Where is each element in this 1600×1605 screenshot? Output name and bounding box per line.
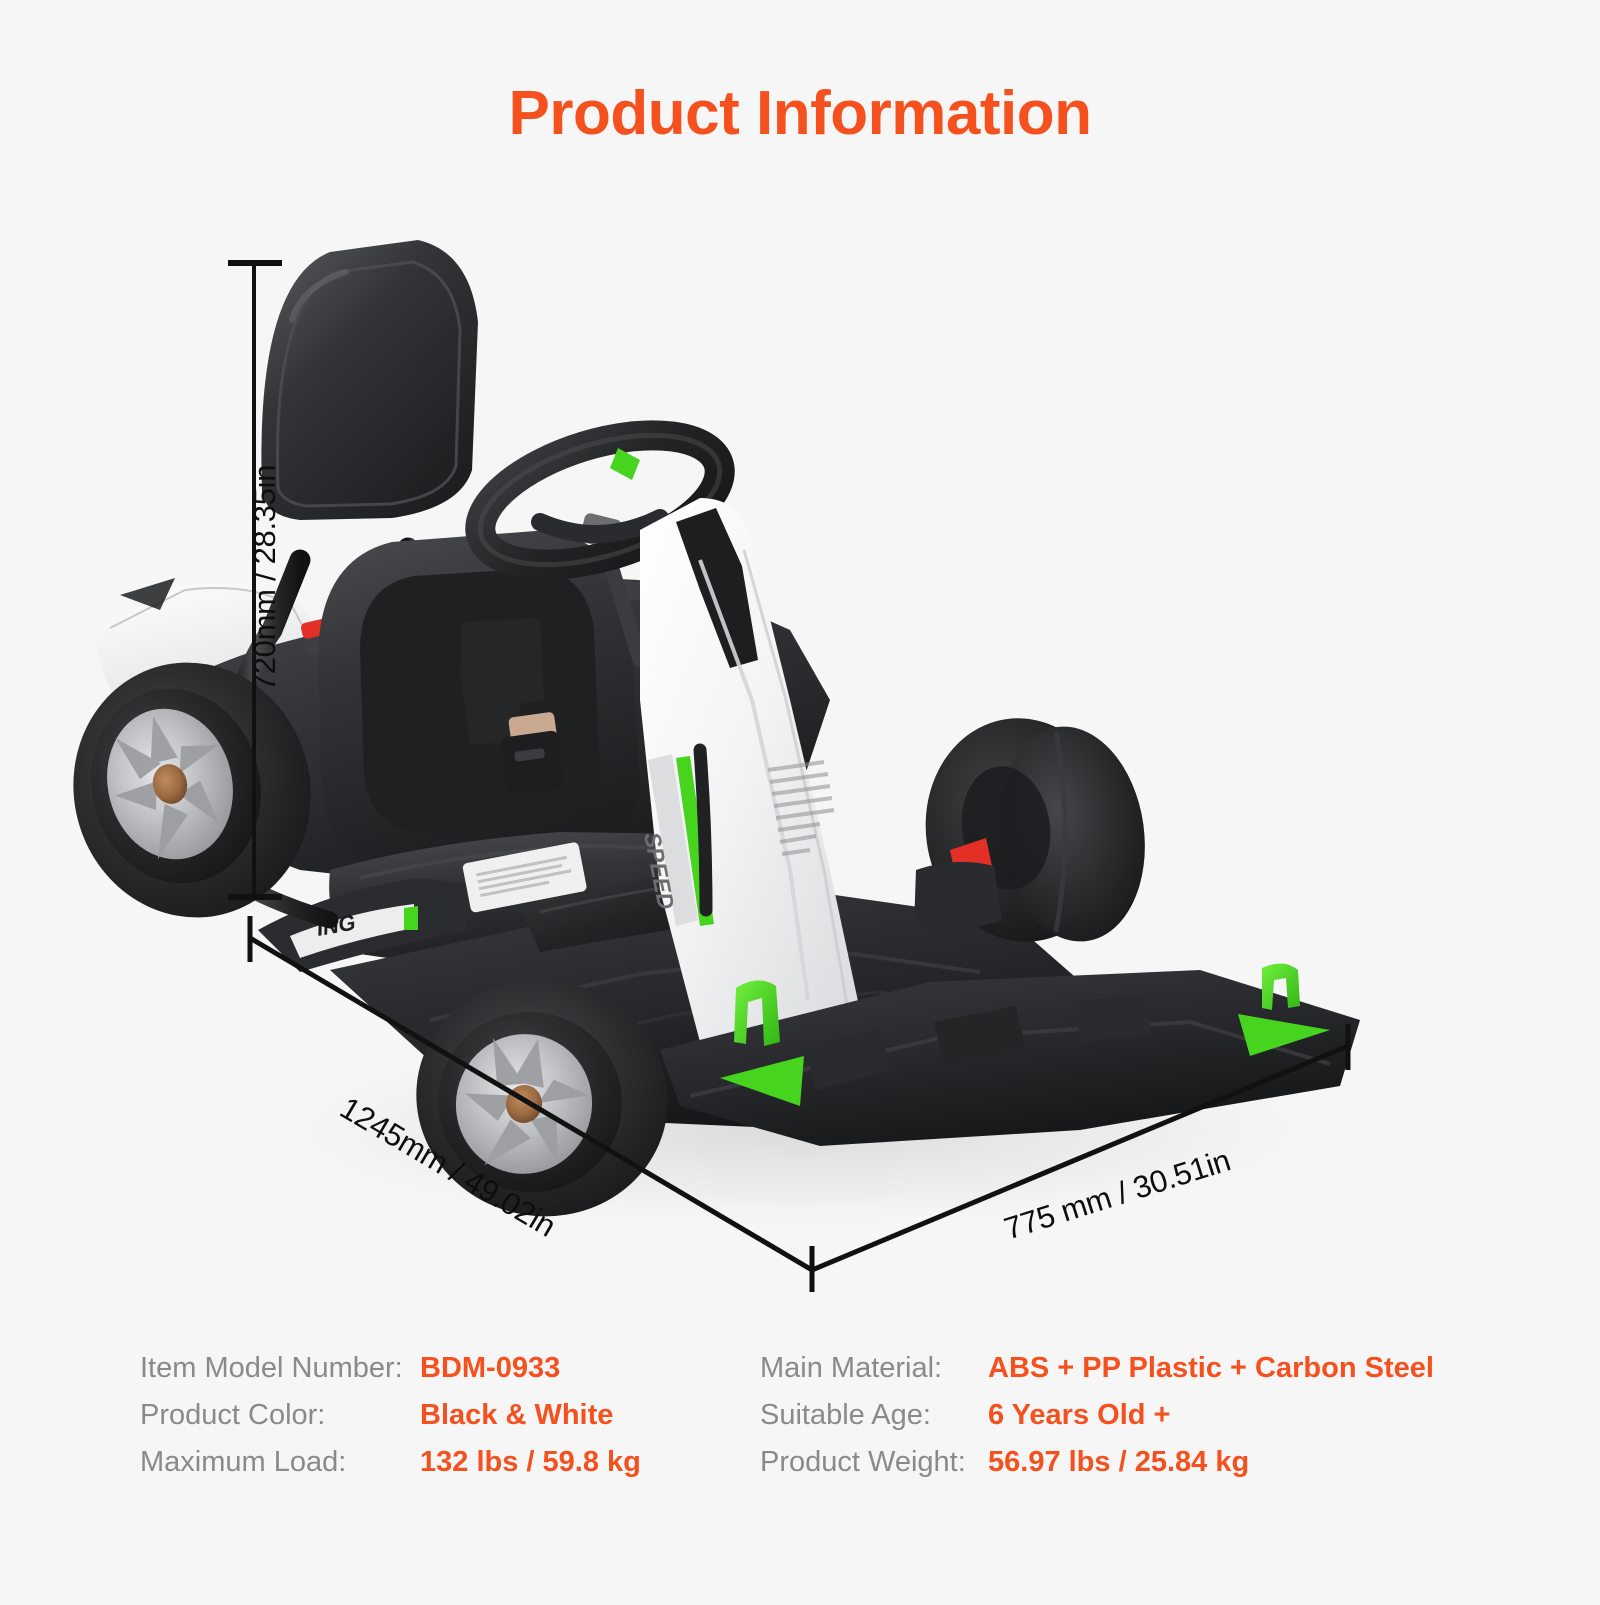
spec-column-right: Main Material: ABS + PP Plastic + Carbon… bbox=[760, 1352, 1460, 1479]
specification-table: Item Model Number: BDM-0933 Product Colo… bbox=[0, 1352, 1600, 1479]
spec-label-age: Suitable Age: bbox=[760, 1399, 988, 1432]
headrest bbox=[261, 240, 478, 520]
spec-row-max-load: Maximum Load: 132 lbs / 59.8 kg bbox=[140, 1446, 760, 1479]
spec-label-weight: Product Weight: bbox=[760, 1446, 988, 1479]
spec-value-model: BDM-0933 bbox=[420, 1352, 560, 1385]
spec-label-color: Product Color: bbox=[140, 1399, 420, 1432]
spec-row-age: Suitable Age: 6 Years Old + bbox=[760, 1399, 1460, 1432]
spec-value-material: ABS + PP Plastic + Carbon Steel bbox=[988, 1352, 1434, 1385]
spec-value-age: 6 Years Old + bbox=[988, 1399, 1170, 1432]
spec-label-max-load: Maximum Load: bbox=[140, 1446, 420, 1479]
go-kart-illustration: ING bbox=[0, 230, 1600, 1340]
spec-value-color: Black & White bbox=[420, 1399, 613, 1432]
spec-value-weight: 56.97 lbs / 25.84 kg bbox=[988, 1446, 1249, 1479]
spec-row-material: Main Material: ABS + PP Plastic + Carbon… bbox=[760, 1352, 1460, 1385]
page-title: Product Information bbox=[0, 78, 1600, 149]
spec-column-left: Item Model Number: BDM-0933 Product Colo… bbox=[140, 1352, 760, 1479]
spec-value-max-load: 132 lbs / 59.8 kg bbox=[420, 1446, 641, 1479]
spec-row-model: Item Model Number: BDM-0933 bbox=[140, 1352, 760, 1385]
spec-label-material: Main Material: bbox=[760, 1352, 988, 1385]
product-image: ING bbox=[0, 230, 1600, 1340]
side-pod-green bbox=[404, 906, 418, 930]
spec-row-weight: Product Weight: 56.97 lbs / 25.84 kg bbox=[760, 1446, 1460, 1479]
spec-row-color: Product Color: Black & White bbox=[140, 1399, 760, 1432]
axle-cover bbox=[914, 862, 1002, 930]
spec-label-model: Item Model Number: bbox=[140, 1352, 420, 1385]
brake-lever bbox=[700, 750, 706, 910]
